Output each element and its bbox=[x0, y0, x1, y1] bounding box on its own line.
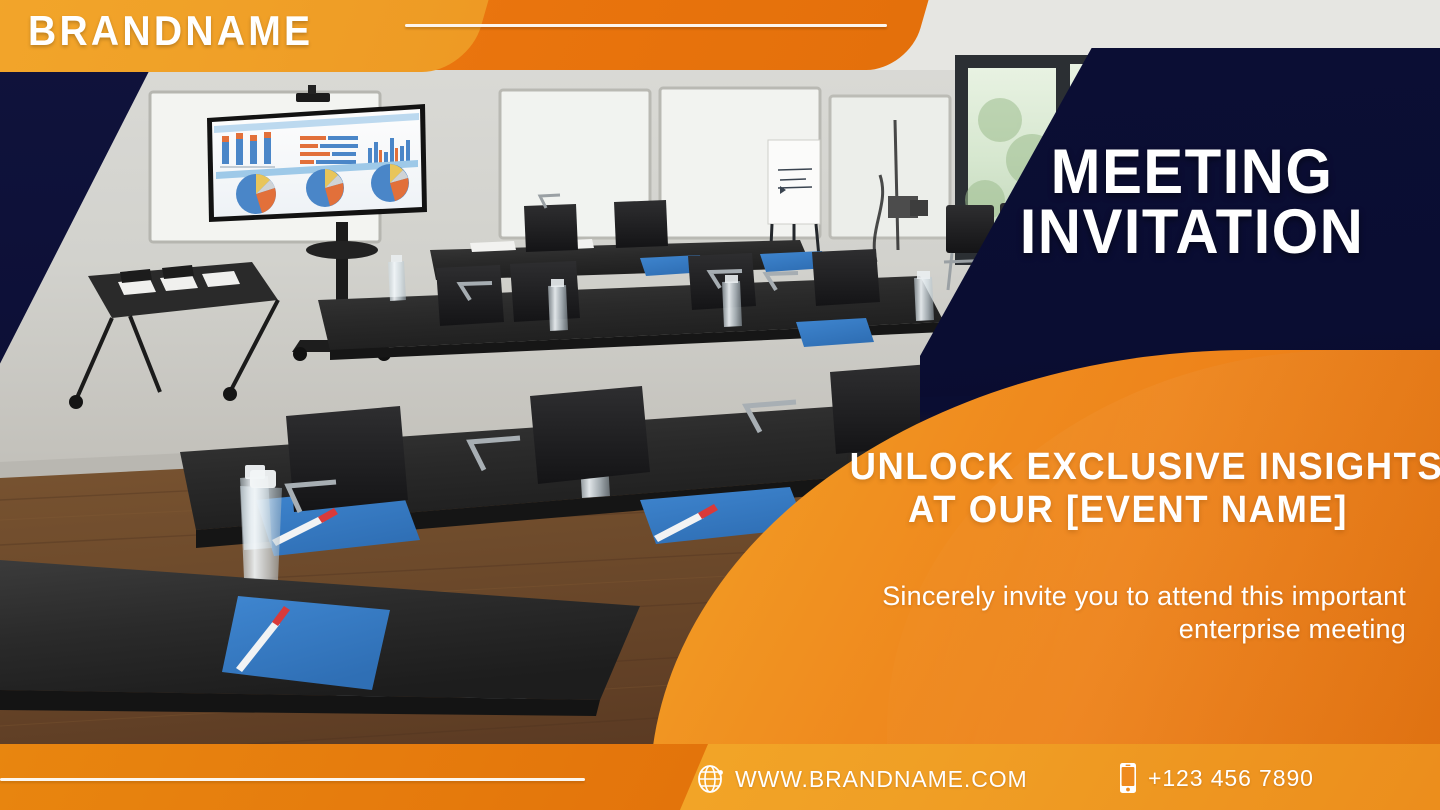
headline: UNLOCK EXCLUSIVE INSIGHTS AT OUR [EVENT … bbox=[850, 446, 1407, 533]
subtext-line-2: enterprise meeting bbox=[1179, 614, 1406, 644]
phone-contact[interactable]: +123 456 7890 bbox=[1118, 762, 1314, 794]
subtext-line-1: Sincerely invite you to attend this impo… bbox=[882, 581, 1406, 611]
headline-line-1: UNLOCK EXCLUSIVE INSIGHTS bbox=[850, 446, 1407, 489]
phone-number: +123 456 7890 bbox=[1148, 765, 1314, 792]
smartphone-icon bbox=[1118, 762, 1138, 794]
page-title-line-2: INVITATION bbox=[964, 202, 1420, 262]
footer-divider-line bbox=[0, 778, 585, 781]
footer-orange-band bbox=[0, 744, 708, 810]
headline-line-2: AT OUR [EVENT NAME] bbox=[850, 489, 1407, 532]
globe-icon bbox=[697, 764, 725, 794]
invitation-subtext: Sincerely invite you to attend this impo… bbox=[806, 580, 1406, 646]
page-title: MEETING INVITATION bbox=[964, 142, 1420, 263]
meeting-invitation-poster: BRANDNAME MEETING INVITATION UNLOCK EXCL… bbox=[0, 0, 1440, 810]
brand-logo-text: BRANDNAME bbox=[28, 7, 313, 55]
website-contact[interactable]: WWW.BRANDNAME.COM bbox=[697, 764, 1028, 794]
website-url: WWW.BRANDNAME.COM bbox=[735, 766, 1028, 793]
header-divider-line bbox=[405, 24, 887, 27]
page-title-line-1: MEETING bbox=[964, 142, 1420, 202]
